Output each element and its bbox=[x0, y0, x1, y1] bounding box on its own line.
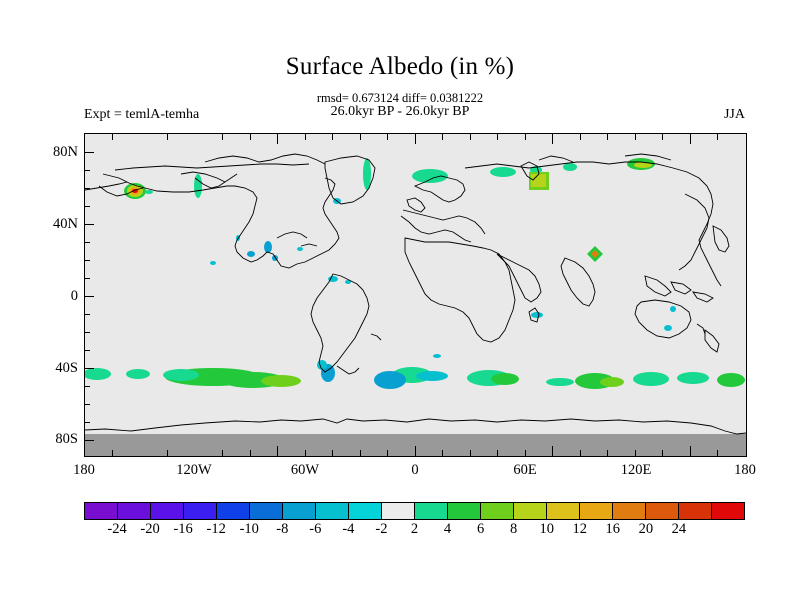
x-tick-minor bbox=[332, 134, 333, 140]
x-tick-marks-top bbox=[84, 134, 747, 144]
x-tick-major bbox=[415, 134, 416, 144]
patch-south-pacific-west bbox=[163, 369, 199, 381]
colorbar-tick-label: -4 bbox=[342, 521, 354, 538]
season-label: JJA bbox=[724, 107, 745, 123]
patch-south-pacific-core bbox=[261, 375, 301, 387]
y-tick-label-0: 0 bbox=[4, 288, 78, 305]
patch-south-atlantic-3 bbox=[416, 371, 448, 381]
x-tick-minor bbox=[305, 134, 306, 140]
x-tick-minor bbox=[662, 134, 663, 140]
patch-pacific-southeast bbox=[717, 373, 745, 387]
x-tick-minor bbox=[525, 134, 526, 140]
patch-madagascar-channel bbox=[531, 312, 543, 318]
x-tick-label-120w: 120W bbox=[176, 462, 211, 479]
patch-tasman-east bbox=[677, 372, 709, 384]
x-tick-major bbox=[552, 446, 553, 456]
x-tick-minor bbox=[250, 450, 251, 456]
y-axis: 80N 40N 0 40S 80S bbox=[0, 133, 78, 457]
x-tick-minor bbox=[442, 450, 443, 456]
y-tick-minor bbox=[85, 188, 90, 189]
colorbar-cell-14[interactable] bbox=[547, 503, 580, 519]
x-tick-minor bbox=[580, 134, 581, 140]
colorbar-tick-label: -8 bbox=[276, 521, 288, 538]
y-tick-minor bbox=[85, 350, 90, 351]
x-tick-minor bbox=[497, 134, 498, 140]
x-tick-label-60e: 60E bbox=[513, 462, 536, 479]
patch-taymyr-coast bbox=[563, 163, 577, 171]
y-tick-minor bbox=[85, 422, 90, 423]
map-background bbox=[85, 134, 746, 456]
colorbar-cell-6[interactable] bbox=[283, 503, 316, 519]
x-tick-major bbox=[690, 134, 691, 144]
colorbar-tick-label: -6 bbox=[309, 521, 321, 538]
patch-pacific-mid bbox=[126, 369, 150, 379]
x-tick-minor bbox=[497, 450, 498, 456]
x-tick-minor bbox=[222, 134, 223, 140]
x-tick-minor bbox=[662, 450, 663, 456]
colorbar-cell-2[interactable] bbox=[151, 503, 184, 519]
colorbar-cell-11[interactable] bbox=[448, 503, 481, 519]
y-tick-minor bbox=[85, 278, 90, 279]
patch-alaska-tail bbox=[145, 190, 153, 194]
colorbar-tick-label: 10 bbox=[539, 521, 554, 538]
colorbar-tick-label: -2 bbox=[375, 521, 387, 538]
colorbar-cell-3[interactable] bbox=[184, 503, 217, 519]
x-tick-minor bbox=[717, 450, 718, 456]
y-tick-minor bbox=[85, 260, 90, 261]
colorbar-cell-5[interactable] bbox=[250, 503, 283, 519]
x-tick-minor bbox=[112, 134, 113, 140]
colorbar-tick-label: -20 bbox=[140, 521, 159, 538]
patch-indian-ocean-2 bbox=[491, 373, 519, 385]
x-tick-label-0: 0 bbox=[411, 462, 418, 479]
patch-south-indian-core bbox=[600, 377, 624, 387]
y-tick-major bbox=[85, 368, 94, 369]
x-tick-minor bbox=[580, 450, 581, 456]
x-tick-minor bbox=[635, 450, 636, 456]
patch-barents-sea bbox=[490, 167, 516, 177]
y-tick-minor bbox=[85, 314, 90, 315]
x-tick-minor bbox=[112, 450, 113, 456]
x-tick-minor bbox=[387, 450, 388, 456]
colorbar-cell-18[interactable] bbox=[679, 503, 712, 519]
experiment-label: Expt = temlA-temha bbox=[84, 107, 199, 123]
colorbar[interactable] bbox=[84, 502, 745, 520]
x-tick-minor bbox=[332, 450, 333, 456]
patch-novaya-zemlya-core bbox=[531, 174, 546, 187]
colorbar-tick-label: 4 bbox=[444, 521, 451, 538]
x-tick-minor bbox=[360, 134, 361, 140]
x-tick-minor bbox=[250, 134, 251, 140]
y-tick-minor bbox=[85, 332, 90, 333]
x-tick-minor bbox=[305, 450, 306, 456]
x-tick-major bbox=[277, 446, 278, 456]
x-tick-minor bbox=[525, 450, 526, 456]
patch-yucatan bbox=[264, 241, 272, 253]
y-tick-label-40s: 40S bbox=[4, 360, 78, 377]
y-tick-label-80s: 80S bbox=[4, 431, 78, 448]
x-tick-label-180w: 180 bbox=[73, 462, 95, 479]
patch-australia-north bbox=[670, 306, 676, 312]
x-tick-major bbox=[690, 446, 691, 456]
colorbar-tick-label: -10 bbox=[240, 521, 259, 538]
colorbar-tick-label: 24 bbox=[672, 521, 687, 538]
colorbar-tick-label: 6 bbox=[477, 521, 484, 538]
colorbar-cell-0[interactable] bbox=[85, 503, 118, 519]
x-tick-minor bbox=[222, 450, 223, 456]
colorbar-cell-1[interactable] bbox=[118, 503, 151, 519]
x-tick-minor bbox=[442, 134, 443, 140]
colorbar-cell-12[interactable] bbox=[481, 503, 514, 519]
patch-south-atlantic-2 bbox=[374, 371, 406, 389]
x-tick-minor bbox=[360, 450, 361, 456]
colorbar-cell-8[interactable] bbox=[349, 503, 382, 519]
colorbar-cell-13[interactable] bbox=[514, 503, 547, 519]
x-tick-minor bbox=[167, 134, 168, 140]
colorbar-tick-label: 2 bbox=[411, 521, 418, 538]
patch-mexico-pacific bbox=[247, 251, 255, 257]
colorbar-cell-10[interactable] bbox=[415, 503, 448, 519]
patch-australia-southeast bbox=[664, 325, 672, 331]
x-tick-label-60w: 60W bbox=[291, 462, 319, 479]
colorbar-tick-label: -16 bbox=[173, 521, 192, 538]
colorbar-cell-7[interactable] bbox=[316, 503, 349, 519]
x-tick-label-180e: 180 bbox=[734, 462, 756, 479]
colorbar-tick-label: -24 bbox=[107, 521, 126, 538]
x-tick-minor bbox=[607, 134, 608, 140]
y-tick-minor bbox=[85, 404, 90, 405]
x-tick-major bbox=[277, 134, 278, 144]
colorbar-tick-label: 12 bbox=[573, 521, 588, 538]
y-tick-marks bbox=[85, 134, 97, 456]
patch-caribbean bbox=[297, 247, 303, 251]
x-tick-label-120e: 120E bbox=[621, 462, 652, 479]
y-tick-minor bbox=[85, 386, 90, 387]
colorbar-cell-17[interactable] bbox=[646, 503, 679, 519]
y-tick-major bbox=[85, 296, 94, 297]
patch-south-indian-1 bbox=[546, 378, 574, 386]
colorbar-cell-9[interactable] bbox=[382, 503, 415, 519]
figure-canvas: Surface Albedo (in %) rmsd= 0.673124 dif… bbox=[0, 0, 800, 600]
patch-pacific-spot bbox=[210, 261, 216, 265]
x-tick-minor bbox=[470, 134, 471, 140]
x-axis: 180 120W 60W 0 60E 120E 180 bbox=[0, 462, 800, 484]
page-title: Surface Albedo (in %) bbox=[0, 53, 800, 81]
colorbar-cell-16[interactable] bbox=[613, 503, 646, 519]
colorbar-tick-label: 20 bbox=[639, 521, 654, 538]
y-tick-minor bbox=[85, 206, 90, 207]
y-tick-minor bbox=[85, 242, 90, 243]
colorbar-tick-label: 8 bbox=[510, 521, 517, 538]
x-tick-minor bbox=[607, 450, 608, 456]
world-map bbox=[85, 134, 746, 456]
y-tick-major bbox=[85, 224, 94, 225]
colorbar-cell-15[interactable] bbox=[580, 503, 613, 519]
y-tick-major bbox=[85, 440, 94, 441]
x-tick-minor bbox=[635, 134, 636, 140]
y-tick-major bbox=[85, 152, 94, 153]
x-tick-minor bbox=[387, 134, 388, 140]
map-plot-area bbox=[84, 133, 747, 457]
y-tick-minor bbox=[85, 170, 90, 171]
x-tick-minor bbox=[167, 450, 168, 456]
y-tick-label-40n: 40N bbox=[4, 216, 78, 233]
colorbar-tick-label: -12 bbox=[207, 521, 226, 538]
patch-south-atlantic-spot bbox=[433, 354, 441, 358]
patch-tasman-band bbox=[633, 372, 669, 386]
x-tick-major bbox=[415, 446, 416, 456]
x-tick-minor bbox=[470, 450, 471, 456]
x-tick-major bbox=[552, 134, 553, 144]
x-tick-minor bbox=[717, 134, 718, 140]
y-tick-label-80n: 80N bbox=[4, 144, 78, 161]
colorbar-cell-4[interactable] bbox=[217, 503, 250, 519]
x-tick-marks-bottom bbox=[84, 446, 747, 456]
colorbar-tick-label: 16 bbox=[606, 521, 621, 538]
colorbar-tick-labels: -24-20-16-12-10-8-6-4-224681012162024 bbox=[84, 521, 745, 541]
colorbar-cell-19[interactable] bbox=[712, 503, 744, 519]
patch-hudson-strip bbox=[194, 174, 202, 198]
